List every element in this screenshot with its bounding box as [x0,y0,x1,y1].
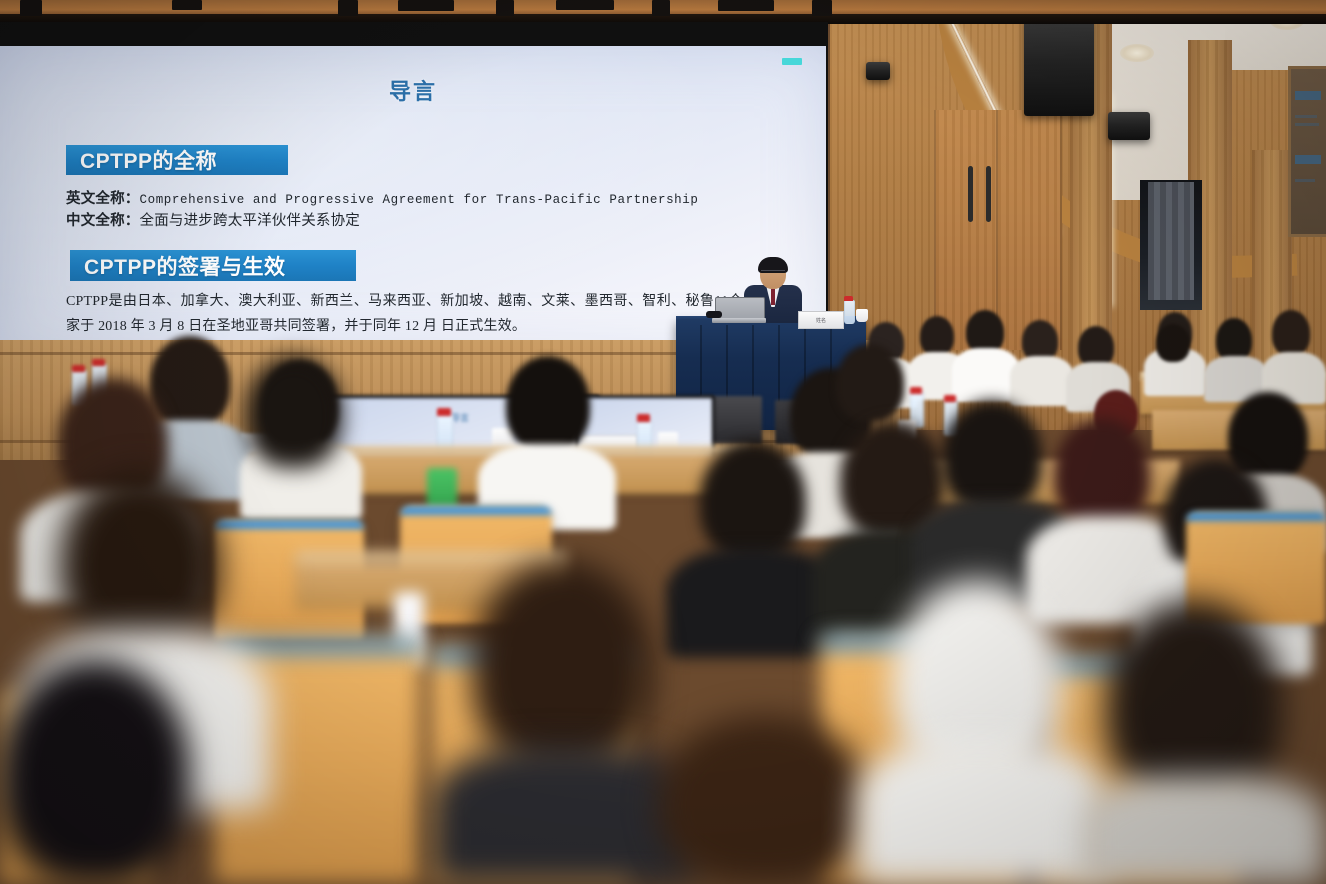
ceiling-speaker-2 [1108,112,1150,140]
ceiling-mount-9 [812,0,832,16]
speaker-glasses [761,270,785,276]
ceiling-mount-7 [652,0,670,16]
table-bottle-4-cap [637,414,650,422]
speaker-tie [771,289,775,305]
ceiling-mount-6 [556,0,614,10]
value-chinese-full-name: 全面与进步跨太平洋伙伴关系协定 [140,213,361,229]
laptop-screen [715,297,765,320]
wall-sign-line-3 [1295,123,1319,126]
speaker-water-bottle [844,300,855,324]
ceiling-mount-4 [398,0,454,11]
desk-microphone [706,311,722,318]
wall-sign-line-4 [1295,155,1321,164]
value-english-full-name: Comprehensive and Progressive Agreement … [140,193,699,207]
foreground-head-3 [472,560,652,770]
table-bottle-6-cap [944,395,956,402]
chair-row-back-3-trim [1186,512,1326,521]
slide-section-heading-1: CPTPP的全称 [66,145,288,175]
wall-sign-line-1 [1295,91,1321,100]
audience-member-m4-torso [1010,356,1074,406]
wall-camera [866,62,890,80]
audience-member-r4 [1156,324,1190,362]
chair-front-1-trim [214,640,422,653]
door-handle-left[interactable] [968,166,973,222]
slide-text-chinese-full-name: 中文全称：全面与进步跨太平洋伙伴关系协定 [66,209,806,233]
label-english-full-name: 英文全称： [66,191,140,207]
ceiling-downlight-2 [1120,44,1154,62]
slide-accent-tag [782,58,802,65]
audience-head-b5 [1054,418,1150,528]
wall-sign-frame [1288,66,1326,237]
audience-member-m2 [920,316,954,356]
speaker-water-bottle-cap [844,296,853,301]
table-bottle-3-cap [437,408,451,416]
ceiling-mount-2 [172,0,202,10]
slide-title: 导言 [0,74,826,106]
speaker-nameplate: 姓名 [798,311,844,329]
table-bottle-2-cap [92,359,105,366]
audience-head-b2 [700,440,806,560]
audience-head-a3 [506,356,590,452]
window-curtain [1148,182,1194,300]
ceiling-speaker-1 [1024,16,1094,116]
speaker-laptop[interactable] [712,297,766,323]
audience-head-a5 [836,344,904,422]
ceiling-mount-8 [718,0,774,11]
foreground-head-4 [658,716,870,884]
foreground-torso-6 [1080,776,1326,884]
presentation-slide: 导言 CPTPP的全称 英文全称：Comprehensive and Progr… [0,46,826,358]
door-handle-right[interactable] [986,166,991,222]
slide-section-heading-2: CPTPP的签署与生效 [70,250,356,281]
ceiling-mount-5 [496,0,514,16]
chair-row-back-2-trim [400,506,552,515]
wall-sign-line-2 [1295,115,1317,118]
speaker-cup [856,309,868,322]
audience-head-b4 [942,400,1042,512]
foreground-desk-1-edge [296,552,566,564]
audience-member-r3 [1272,310,1310,356]
door-panel-right[interactable] [996,110,1062,350]
chair-row-back-1-trim [214,520,364,529]
table-bottle-1-cap [72,365,85,372]
foreground-head-2 [0,660,190,884]
foreground-head-7 [246,356,342,468]
ceiling-mount-3 [338,0,358,16]
laptop-base [712,318,766,323]
foreground-head-1 [60,470,220,650]
foreground-torso-5 [856,740,1106,884]
label-chinese-full-name: 中文全称： [66,213,140,229]
wall-sign-line-5 [1295,179,1315,182]
ceiling-mount-1 [20,0,42,16]
table-bottle-5-cap [910,387,922,394]
lecture-hall-scene: 导言 CPTPP的全称 英文全称：Comprehensive and Progr… [0,0,1326,884]
projection-screen: 导言 CPTPP的全称 英文全称：Comprehensive and Progr… [0,22,828,342]
